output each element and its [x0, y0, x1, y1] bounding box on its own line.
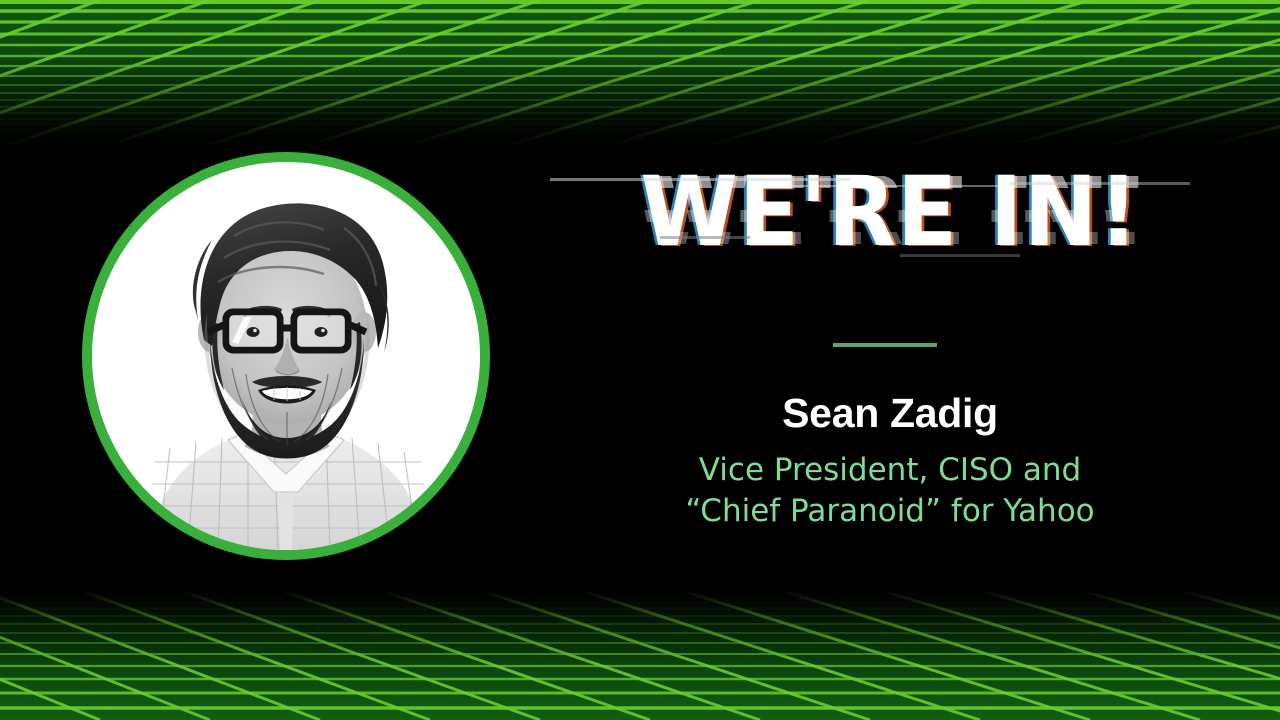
- speaker-portrait-ring: [82, 152, 490, 560]
- bottom-grid-fade: [0, 590, 1280, 720]
- speaker-role-line-2: “Chief Paranoid” for Yahoo: [540, 491, 1240, 532]
- headline-glitch-title: WE'RE IN! WE'RE IN! WE'RE IN! WE'RE IN! …: [540, 158, 1240, 288]
- top-grid-svg: [0, 0, 1280, 148]
- top-perspective-grid: [0, 0, 1280, 148]
- divider: [833, 343, 937, 347]
- presentation-slide: WE'RE IN! WE'RE IN! WE'RE IN! WE'RE IN! …: [0, 0, 1280, 720]
- avatar: [92, 162, 480, 550]
- speaker-role: Vice President, CISO and “Chief Paranoid…: [540, 450, 1240, 532]
- bottom-grid-svg: [0, 590, 1280, 720]
- speaker-portrait-disc: [92, 162, 480, 550]
- top-grid-fade: [0, 0, 1280, 148]
- speaker-role-line-1: Vice President, CISO and: [540, 450, 1240, 491]
- avatar-illustration: [92, 162, 480, 550]
- bottom-perspective-grid: [0, 590, 1280, 720]
- speaker-name: Sean Zadig: [540, 390, 1240, 437]
